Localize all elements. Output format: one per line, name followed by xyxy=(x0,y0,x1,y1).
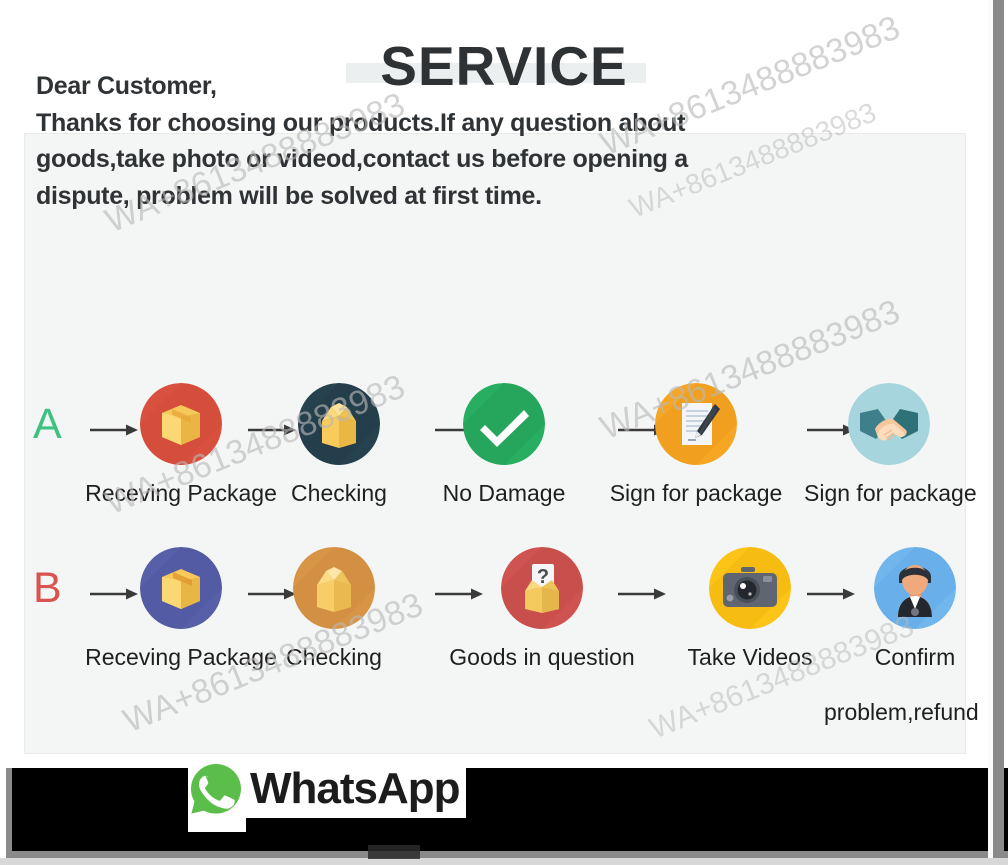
flow-label-b-5: Confirm xyxy=(875,642,956,672)
service-info-image: SERVICE Dear Customer, Thanks for choosi… xyxy=(0,0,1008,865)
refund-subcaption: problem,refund xyxy=(824,697,979,727)
scrollbar-thumb[interactable] xyxy=(993,0,1004,858)
flow-badge-a: A xyxy=(33,401,62,447)
flow-label-a-1: Receving Package xyxy=(85,478,277,508)
page-title-text: SERVICE xyxy=(0,34,1008,98)
question-box-icon: ? xyxy=(501,547,583,629)
flow-badge-b: B xyxy=(33,565,62,611)
bottom-bar-smudge xyxy=(368,845,420,859)
green-check-icon xyxy=(463,383,545,465)
flow-step-a-1: Receving Package xyxy=(99,383,263,465)
flow-step-a-3: No Damage xyxy=(422,383,586,465)
flow-label-b-1: Receving Package xyxy=(85,642,277,672)
sealed-box-purple-icon xyxy=(140,547,222,629)
bottom-edge-strip xyxy=(0,858,1008,865)
bottom-black-bar xyxy=(6,768,1008,858)
flow-label-b-2: Checking xyxy=(286,642,382,672)
sign-document-icon xyxy=(655,383,737,465)
flow-label-b-4: Take Videos xyxy=(688,642,813,672)
flow-step-a-5: Sign for package xyxy=(804,383,974,465)
flow-step-a-2: Checking xyxy=(257,383,421,465)
flow-row-b: B Receving Package xyxy=(0,547,1008,672)
whatsapp-icon xyxy=(188,761,244,817)
support-person-icon xyxy=(874,547,956,629)
flow-label-b-3: Goods in question xyxy=(449,642,634,672)
flow-label-a-5: Sign for package xyxy=(804,478,977,508)
sealed-box-red-icon xyxy=(140,383,222,465)
flow-label-a-4: Sign for package xyxy=(610,478,783,508)
page-title: SERVICE xyxy=(0,34,1008,98)
flow-step-b-5: Confirm xyxy=(833,547,997,629)
flow-step-a-4: Sign for package xyxy=(614,383,778,465)
whatsapp-badge-tail xyxy=(188,818,246,832)
flow-step-b-3: ? Goods in question xyxy=(460,547,624,629)
flow-step-b-2: Checking xyxy=(252,547,416,629)
open-box-dark-icon xyxy=(298,383,380,465)
handshake-icon xyxy=(848,383,930,465)
flow-label-a-3: No Damage xyxy=(443,478,566,508)
flow-label-a-2: Checking xyxy=(291,478,387,508)
camera-icon xyxy=(709,547,791,629)
flow-row-a: A Receving Package xyxy=(0,383,1008,508)
whatsapp-badge[interactable]: WhatsApp xyxy=(188,760,466,818)
open-box-orange-icon xyxy=(293,547,375,629)
arrow-b-4 xyxy=(616,587,668,601)
whatsapp-label: WhatsApp xyxy=(250,765,460,813)
flow-step-b-1: Receving Package xyxy=(99,547,263,629)
